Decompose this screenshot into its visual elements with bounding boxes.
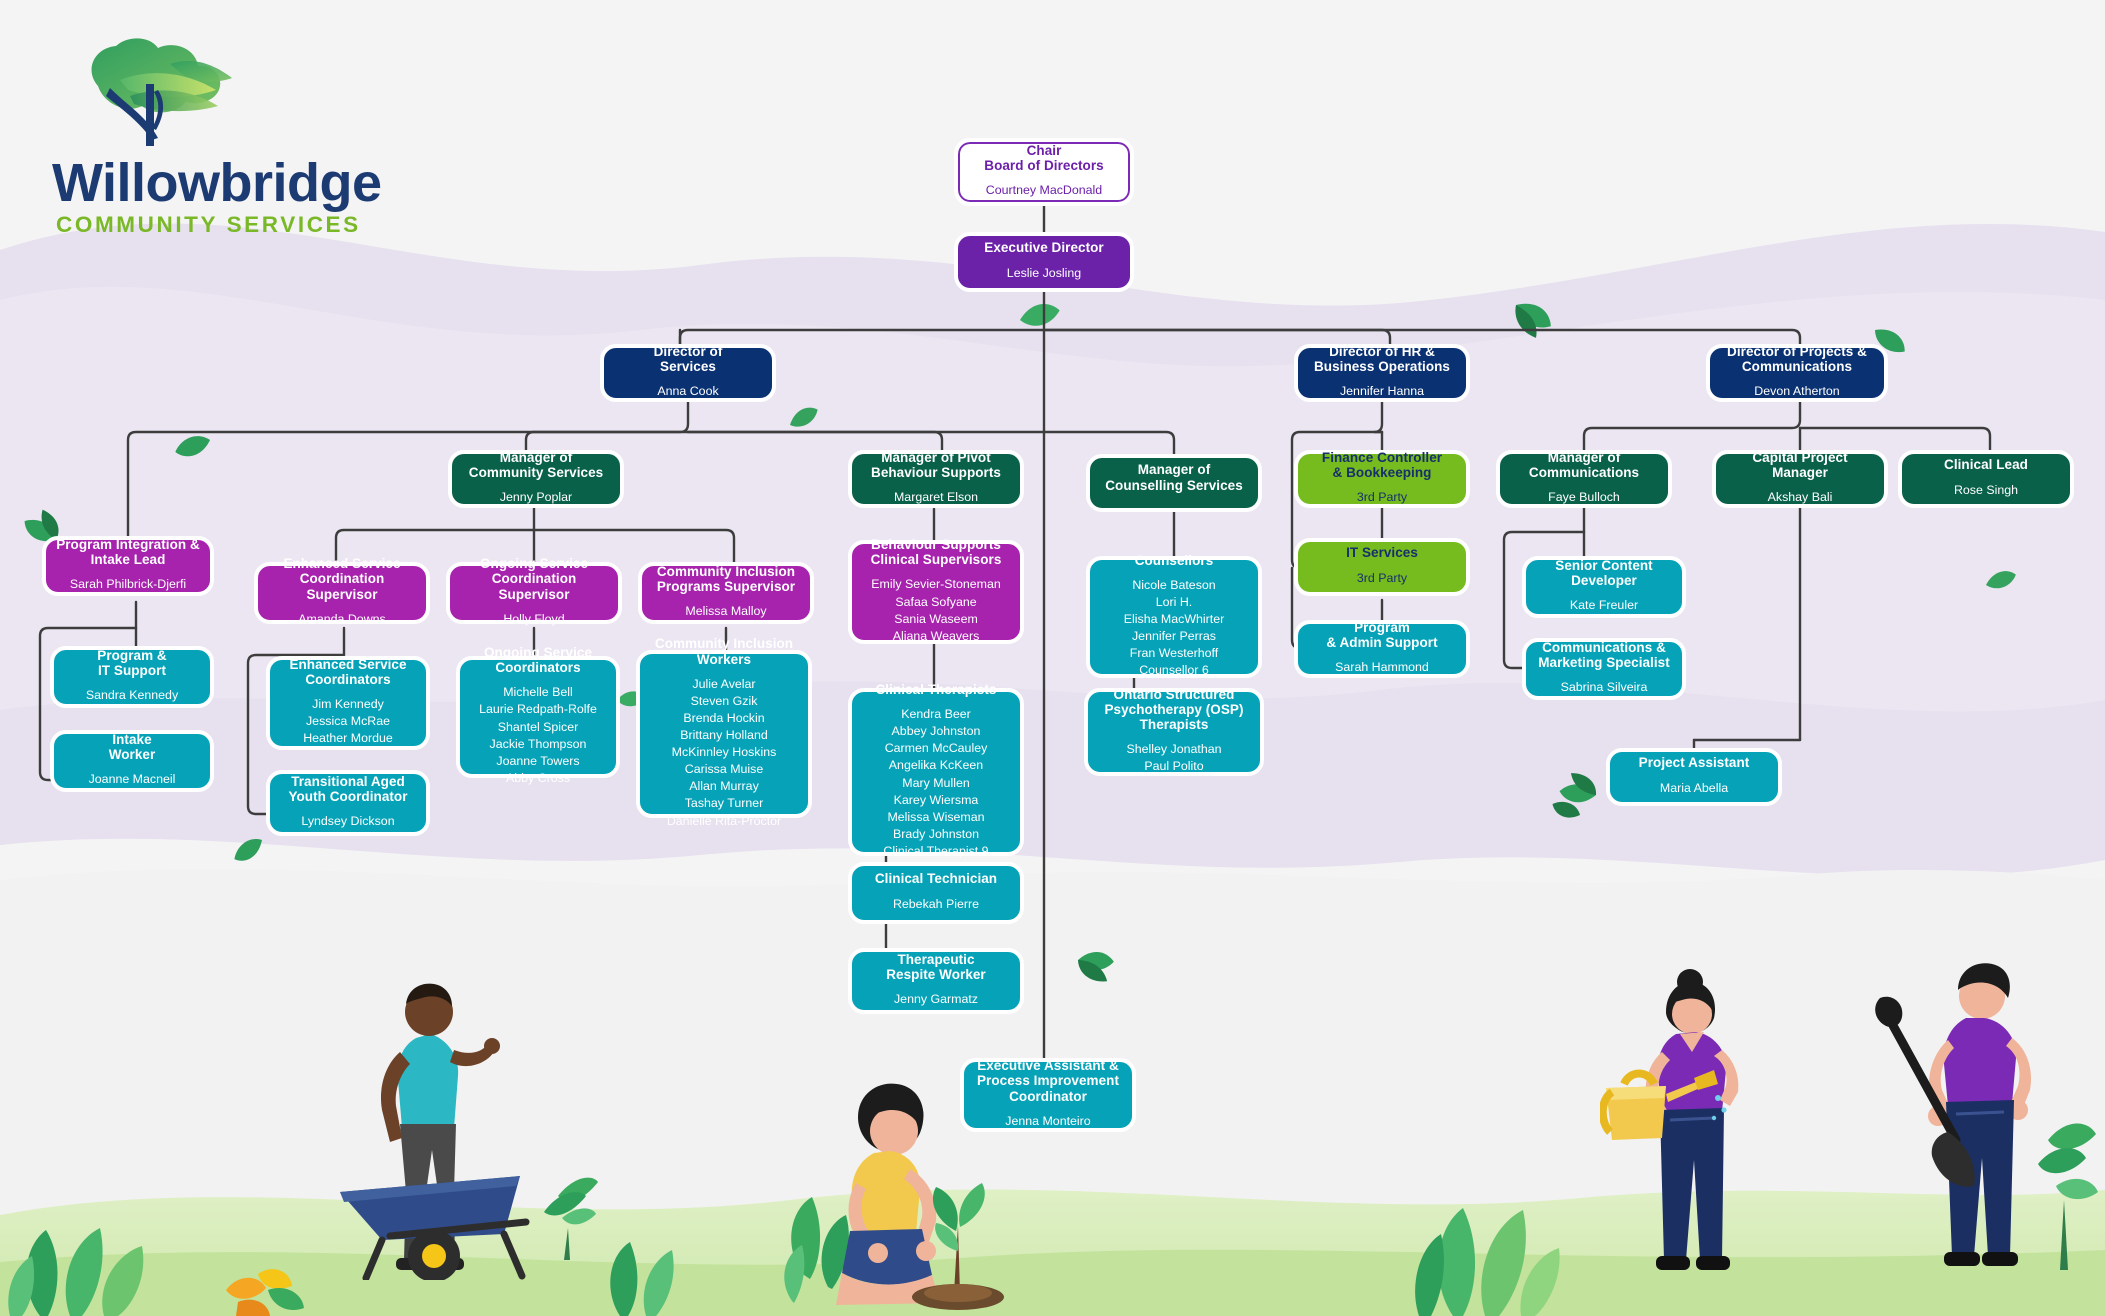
node-title: Enhanced Service Coordinators [289,657,406,687]
node-communications-marketing-specialist[interactable]: Communications & Marketing Specialist Sa… [1522,638,1686,700]
node-title: Clinical Lead [1944,457,2028,472]
node-name: Devon Atherton [1754,383,1839,400]
node-enhanced-service-coordinators[interactable]: Enhanced Service Coordinators Jim Kenned… [266,656,430,750]
node-behaviour-supports-clinical-supervisors[interactable]: Behaviour Supports Clinical Supervisors … [848,540,1024,644]
node-title: Manager of Counselling Services [1105,462,1243,492]
node-title: Therapeutic Respite Worker [886,952,986,982]
node-name: Kate Freuler [1570,597,1638,614]
node-executive-director[interactable]: Executive Director Leslie Josling [954,232,1134,292]
node-name: Shelley Jonathan Paul Polito [1126,741,1221,775]
node-it-services[interactable]: IT Services 3rd Party [1294,538,1470,596]
node-title: Behaviour Supports Clinical Supervisors [871,537,1002,567]
node-chair[interactable]: Chair Board of Directors Courtney MacDon… [954,138,1134,206]
brand-logo: Willowbridge COMMUNITY SERVICES [50,34,380,244]
node-clinical-therapists[interactable]: Clinical Therapists Kendra Beer Abbey Jo… [848,688,1024,856]
node-name: Margaret Elson [894,489,978,506]
node-title: Transitional Aged Youth Coordinator [288,774,407,804]
node-name: Joanne Macneil [89,771,176,788]
node-name: Maria Abella [1660,780,1728,797]
logo-wordmark: Willowbridge [52,152,382,214]
node-enhanced-service-coordination-supervisor[interactable]: Enhanced Service Coordination Supervisor… [254,562,430,624]
illustration-watering-can-person [1600,960,1780,1280]
node-intake-worker[interactable]: Intake Worker Joanne Macneil [50,730,214,792]
node-transitional-aged-youth-coordinator[interactable]: Transitional Aged Youth Coordinator Lynd… [266,770,430,836]
node-name: Rose Singh [1954,482,2018,499]
node-title: Capital Project Manager [1752,450,1847,480]
node-title: Clinical Technician [875,871,997,886]
node-name: Faye Bulloch [1548,489,1620,506]
node-ongoing-service-coordination-supervisor[interactable]: Ongoing Service Coordination Supervisor … [446,562,622,624]
illustration-foliage-right [1395,1130,1575,1316]
illustration-planting-person [770,1075,1040,1316]
node-title: Program Integration & Intake Lead [56,537,200,567]
node-title: Counsellors [1135,553,1214,568]
node-title: Ontario Structured Psychotherapy (OSP) T… [1105,687,1244,732]
node-title: Manager of Pivot Behaviour Supports [871,450,1001,480]
node-name: Amanda Downs [298,611,385,628]
node-title: Project Assistant [1639,755,1750,770]
node-name: Melissa Malloy [685,603,766,620]
node-capital-project-manager[interactable]: Capital Project Manager Akshay Bali [1712,450,1888,508]
node-manager-pivot-behaviour-supports[interactable]: Manager of Pivot Behaviour Supports Marg… [848,450,1024,508]
node-title: Manager of Communications [1529,450,1639,480]
node-name: Anna Cook [657,383,718,400]
org-chart-page: Willowbridge COMMUNITY SERVICES Chair Bo… [0,0,2105,1316]
node-title: Director of Services [654,344,723,374]
node-title: Director of Projects & Communications [1727,344,1867,374]
node-clinical-lead[interactable]: Clinical Lead Rose Singh [1898,450,2074,508]
node-counsellors[interactable]: Counsellors Nicole Bateson Lori H. Elish… [1086,556,1262,678]
node-name: Leslie Josling [1007,265,1081,282]
node-name: Sarah Hammond [1335,659,1429,676]
node-name: Akshay Bali [1768,489,1833,506]
illustration-foliage-mid [580,1180,700,1316]
node-title: Intake Worker [109,732,156,762]
node-title: Executive Director [984,240,1103,255]
node-name: Rebekah Pierre [893,896,979,913]
node-title: Community Inclusion Programs Supervisor [657,564,795,594]
node-name: Sarah Philbrick-Djerfi [70,576,186,593]
node-title: Finance Controller & Bookkeeping [1322,450,1442,480]
node-title: Senior Content Developer [1555,558,1652,588]
node-therapeutic-respite-worker[interactable]: Therapeutic Respite Worker Jenny Garmatz [848,948,1024,1014]
node-name: Kendra Beer Abbey Johnston Carmen McCaul… [883,706,988,860]
node-name: Jim Kennedy Jessica McRae Heather Mordue [303,696,393,747]
illustration-shovel-person [1860,950,2105,1280]
node-name: Julie Avelar Steven Gzik Brenda Hockin B… [667,676,781,830]
logo-tagline: COMMUNITY SERVICES [56,212,361,238]
node-community-inclusion-workers[interactable]: Community Inclusion Workers Julie Avelar… [636,650,812,818]
node-title: Ongoing Service Coordination Supervisor [458,556,610,601]
node-title: Director of HR & Business Operations [1314,344,1450,374]
node-senior-content-developer[interactable]: Senior Content Developer Kate Freuler [1522,556,1686,618]
illustration-foliage-left [0,1170,340,1316]
node-manager-community-services[interactable]: Manager of Community Services Jenny Popl… [448,450,624,508]
node-program-admin-support[interactable]: Program & Admin Support Sarah Hammond [1294,620,1470,678]
node-clinical-technician[interactable]: Clinical Technician Rebekah Pierre [848,862,1024,924]
node-name: 3rd Party [1357,489,1407,506]
node-title: Ongoing Service Coordinators [484,645,592,675]
node-program-it-support[interactable]: Program & IT Support Sandra Kennedy [50,646,214,708]
node-title: Community Inclusion Workers [655,636,793,666]
node-finance-controller[interactable]: Finance Controller & Bookkeeping 3rd Par… [1294,450,1470,508]
node-director-of-hr[interactable]: Director of HR & Business Operations Jen… [1294,344,1470,402]
node-name: Holly Floyd [503,611,564,628]
node-manager-counselling-services[interactable]: Manager of Counselling Services [1086,454,1262,512]
illustration-wheelbarrow-worker [330,960,600,1280]
tree-icon [50,34,380,164]
node-title: Enhanced Service Coordination Supervisor [266,556,418,601]
node-manager-communications[interactable]: Manager of Communications Faye Bulloch [1496,450,1672,508]
node-name: Sabrina Silveira [1561,679,1648,696]
node-title: Manager of Community Services [469,450,603,480]
node-ongoing-service-coordinators[interactable]: Ongoing Service Coordinators Michelle Be… [456,656,620,778]
node-title: IT Services [1346,545,1418,560]
node-name: Nicole Bateson Lori H. Elisha MacWhirter… [1124,577,1225,680]
node-project-assistant[interactable]: Project Assistant Maria Abella [1606,748,1782,806]
node-community-inclusion-programs-supervisor[interactable]: Community Inclusion Programs Supervisor … [638,562,814,624]
node-osp-therapists[interactable]: Ontario Structured Psychotherapy (OSP) T… [1084,688,1264,776]
node-name: Michelle Bell Laurie Redpath-Rolfe Shant… [479,684,597,787]
node-name: Jennifer Hanna [1340,383,1424,400]
node-name: 3rd Party [1357,570,1407,587]
node-name: Sandra Kennedy [86,687,178,704]
node-director-of-services[interactable]: Director of Services Anna Cook [600,344,776,402]
node-program-integration-intake-lead[interactable]: Program Integration & Intake Lead Sarah … [42,536,214,596]
node-name: Emily Sevier-Stoneman Safaa Sofyane Sani… [871,576,1000,644]
node-title: Clinical Therapists [876,682,997,697]
node-title: Program & Admin Support [1326,620,1437,650]
node-title: Communications & Marketing Specialist [1538,640,1670,670]
node-name: Jenny Poplar [500,489,572,506]
node-title: Chair Board of Directors [984,143,1103,173]
node-name: Jenny Garmatz [894,991,978,1008]
node-title: Program & IT Support [97,648,166,678]
node-name: Lyndsey Dickson [301,813,394,830]
node-name: Courtney MacDonald [986,182,1102,199]
node-director-of-projects[interactable]: Director of Projects & Communications De… [1706,344,1888,402]
